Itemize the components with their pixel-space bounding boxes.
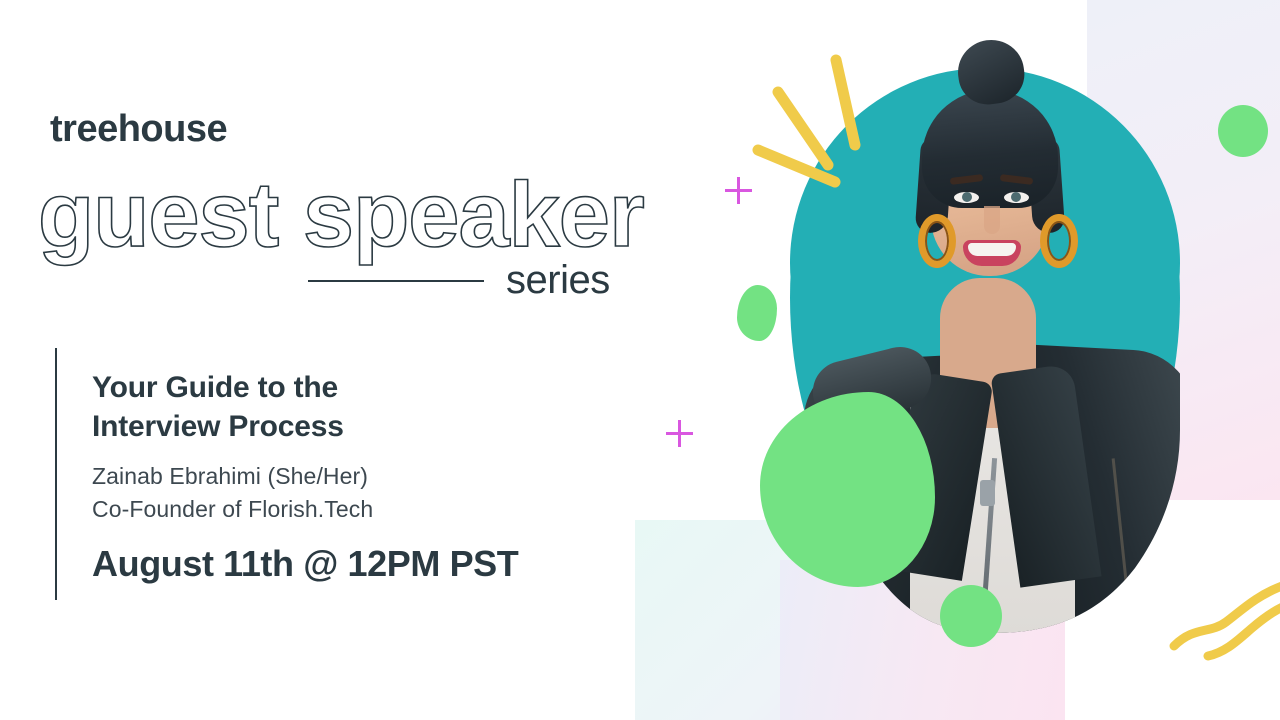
event-datetime: August 11th @ 12PM PST [92,543,612,585]
sparkle-burst-icon [740,30,900,190]
headline-guest-speaker: guest speaker [38,160,658,270]
earring-right [1040,214,1078,268]
plus-mark-icon-lower [666,420,693,447]
series-divider-rule [308,280,484,282]
jacket-zipper-pull [980,480,995,506]
teeth [968,243,1016,256]
speaker-role: Co-Founder of Florish.Tech [92,493,612,526]
earring-left [918,214,956,268]
hair-top [922,90,1058,208]
series-row: series [308,258,610,303]
talk-info-block: Your Guide to the Interview Process Zain… [92,368,612,585]
brand-wordmark: treehouse [50,108,227,151]
iris-left [962,192,972,202]
talk-title-line-2: Interview Process [92,407,612,446]
nose [984,206,1000,234]
speaker-name: Zainab Ebrahimi (She/Her) [92,460,612,493]
talk-title-line-1: Your Guide to the [92,368,612,407]
info-accent-rule [55,348,57,600]
green-blob-shape-small [737,285,777,341]
green-circle-shape-bottom [940,585,1002,647]
promo-slide: treehouse guest speaker series Your Guid… [0,0,1280,720]
iris-right [1011,192,1021,202]
headline-text: guest speaker [38,164,644,266]
talk-title: Your Guide to the Interview Process [92,368,612,446]
wavy-line-icon [1160,580,1280,700]
series-label: series [506,258,610,303]
green-circle-shape-top [1218,105,1268,157]
